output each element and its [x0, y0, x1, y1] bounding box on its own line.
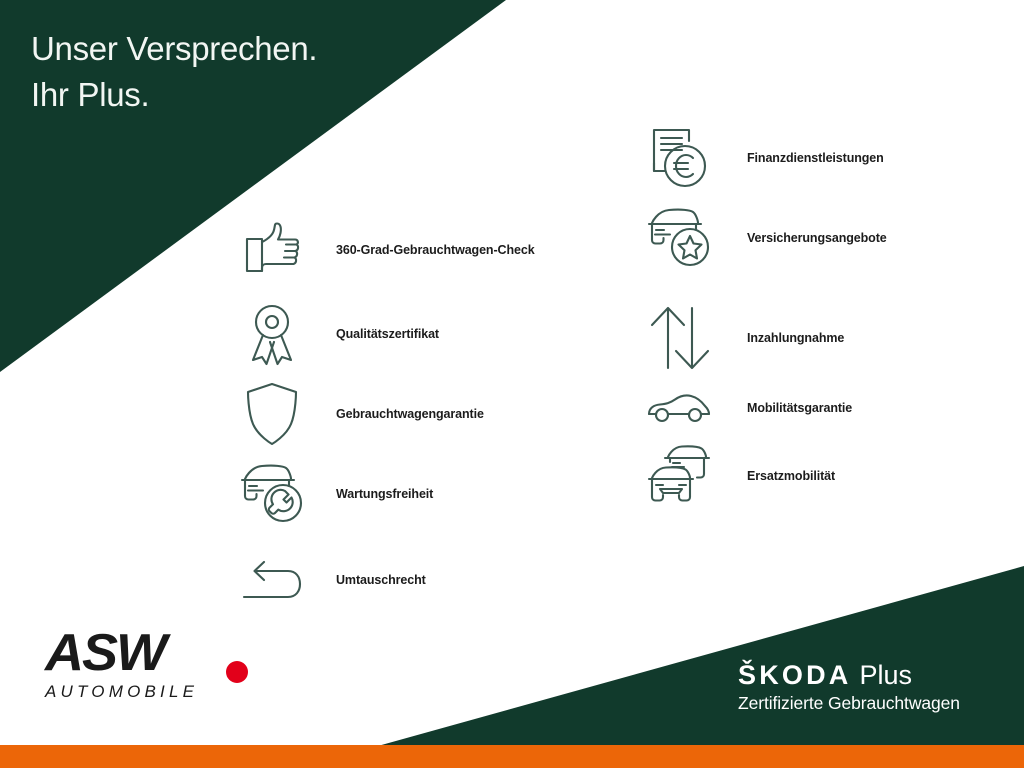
feature-item-warranty: Gebrauchtwagengarantie	[238, 374, 484, 454]
feature-label: Umtauschrecht	[336, 573, 426, 587]
feature-label: Inzahlungnahme	[747, 331, 844, 345]
skoda-plus-suffix: Plus	[860, 660, 913, 690]
feature-label: Wartungsfreiheit	[336, 487, 433, 501]
asw-subtitle: AUTOMOBILE	[45, 682, 260, 702]
feature-label: Finanzdienstleistungen	[747, 151, 884, 165]
two-cars-icon	[645, 442, 713, 510]
thumbs-up-icon	[238, 216, 306, 284]
page-title: Unser Versprechen. Ihr Plus.	[31, 26, 317, 118]
award-rosette-icon	[238, 300, 306, 368]
feature-label: Gebrauchtwagengarantie	[336, 407, 484, 421]
shield-icon	[238, 380, 306, 448]
skoda-plus-lockup: ŠKODAPlus	[738, 660, 998, 690]
feature-item-quality-certificate: Qualitätszertifikat	[238, 294, 439, 374]
feature-item-maintenance: Wartungsfreiheit	[238, 454, 433, 534]
orange-accent-bar	[0, 745, 1024, 768]
feature-label: Ersatzmobilität	[747, 469, 835, 483]
asw-automobile-logo: ASW AUTOMOBILE	[45, 628, 260, 718]
feature-item-trade-in: Inzahlungnahme	[645, 298, 844, 378]
feature-item-replacement-mobility: Ersatzmobilität	[645, 436, 835, 516]
red-dot-icon	[226, 661, 248, 683]
skoda-plus-logo: ŠKODAPlus Zertifizierte Gebrauchtwagen	[738, 660, 998, 715]
promo-banner: Unser Versprechen. Ihr Plus. 360-Grad-Ge…	[0, 0, 1024, 768]
feature-item-financial-services: Finanzdienstleistungen	[645, 118, 884, 198]
headline-line-1: Unser Versprechen.	[31, 26, 317, 72]
feature-item-exchange-right: Umtauschrecht	[238, 540, 426, 620]
document-euro-icon	[645, 124, 713, 192]
feature-label: Mobilitätsgarantie	[747, 401, 852, 415]
car-wrench-icon	[238, 460, 306, 528]
car-star-icon	[645, 204, 713, 272]
skoda-plus-tagline: Zertifizierte Gebrauchtwagen	[738, 691, 998, 715]
up-down-arrows-icon	[645, 304, 713, 372]
feature-item-360-check: 360-Grad-Gebrauchtwagen-Check	[238, 210, 535, 290]
headline-line-2: Ihr Plus.	[31, 72, 317, 118]
return-arrow-icon	[238, 546, 306, 614]
car-side-icon	[645, 374, 713, 442]
feature-label: Qualitätszertifikat	[336, 327, 439, 341]
skoda-brand-wordmark: ŠKODA	[738, 660, 852, 690]
feature-item-insurance-offers: Versicherungsangebote	[645, 198, 887, 278]
feature-label: Versicherungsangebote	[747, 231, 887, 245]
feature-label: 360-Grad-Gebrauchtwagen-Check	[336, 243, 535, 257]
